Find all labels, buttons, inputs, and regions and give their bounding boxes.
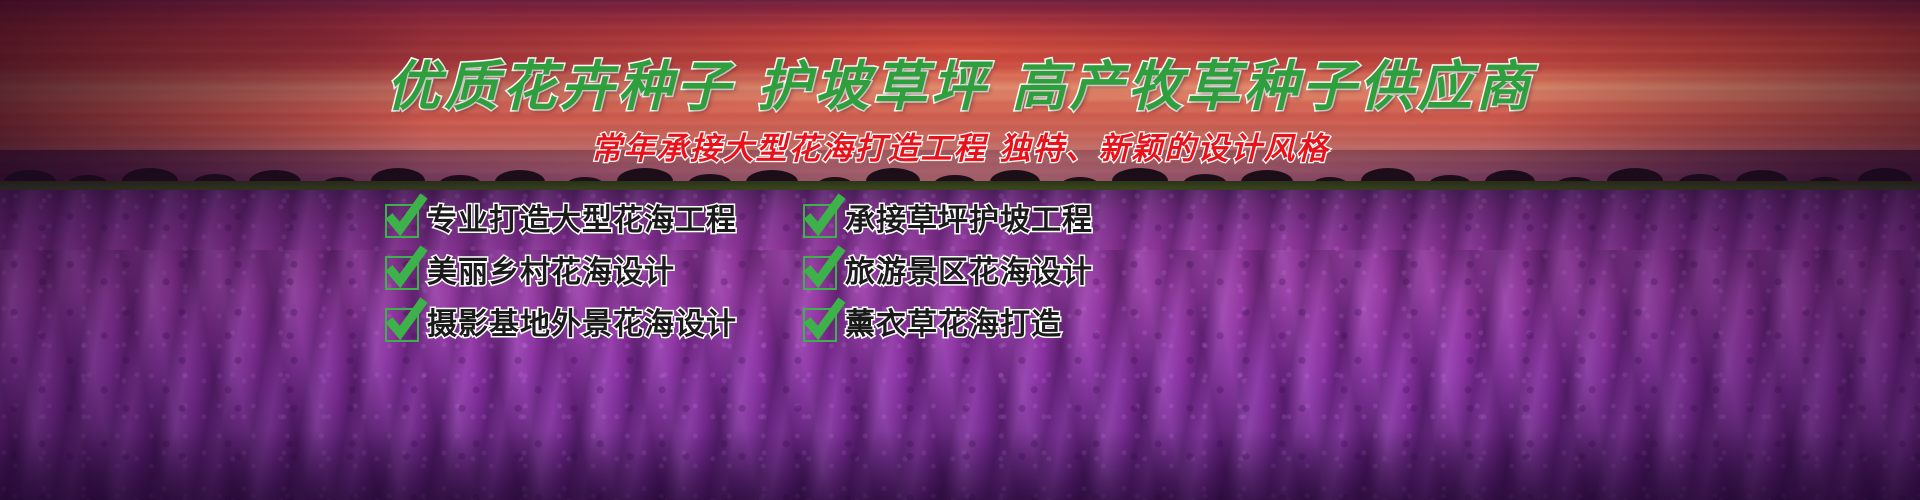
feature-item: 承接草坪护坡工程: [803, 196, 1185, 246]
feature-item: 薰衣草花海打造: [803, 300, 1185, 350]
feature-label: 承接草坪护坡工程: [845, 206, 1093, 236]
feature-item: 摄影基地外景花海设计: [385, 300, 803, 350]
feature-item: 旅游景区花海设计: [803, 248, 1185, 298]
checkbox-outline: [803, 204, 837, 238]
checkbox-outline: [385, 256, 419, 290]
feature-checklist: 专业打造大型花海工程 承接草坪护坡工程 美丽乡村花海设计: [385, 196, 1185, 350]
banner-headline: 优质花卉种子 护坡草坪 高产牧草种子供应商: [0, 42, 1920, 121]
check-icon: [801, 296, 847, 342]
check-icon: [383, 192, 429, 238]
field-bottom-shadow: [0, 430, 1920, 500]
promo-banner: 优质花卉种子 护坡草坪 高产牧草种子供应商 常年承接大型花海打造工程 独特、新颖…: [0, 0, 1920, 500]
feature-item: 美丽乡村花海设计: [385, 248, 803, 298]
check-icon: [383, 244, 429, 290]
feature-label: 美丽乡村花海设计: [427, 258, 675, 288]
feature-label: 薰衣草花海打造: [845, 310, 1062, 340]
feature-label: 专业打造大型花海工程: [427, 206, 737, 236]
banner-subtitle: 常年承接大型花海打造工程 独特、新颖的设计风格: [0, 123, 1920, 168]
checkbox-outline: [385, 308, 419, 342]
check-icon: [383, 296, 429, 342]
feature-label: 旅游景区花海设计: [845, 258, 1093, 288]
checkbox-outline: [803, 256, 837, 290]
checkbox-outline: [385, 204, 419, 238]
feature-label: 摄影基地外景花海设计: [427, 310, 737, 340]
check-icon: [801, 192, 847, 238]
check-icon: [801, 244, 847, 290]
checkbox-outline: [803, 308, 837, 342]
feature-item: 专业打造大型花海工程: [385, 196, 803, 246]
